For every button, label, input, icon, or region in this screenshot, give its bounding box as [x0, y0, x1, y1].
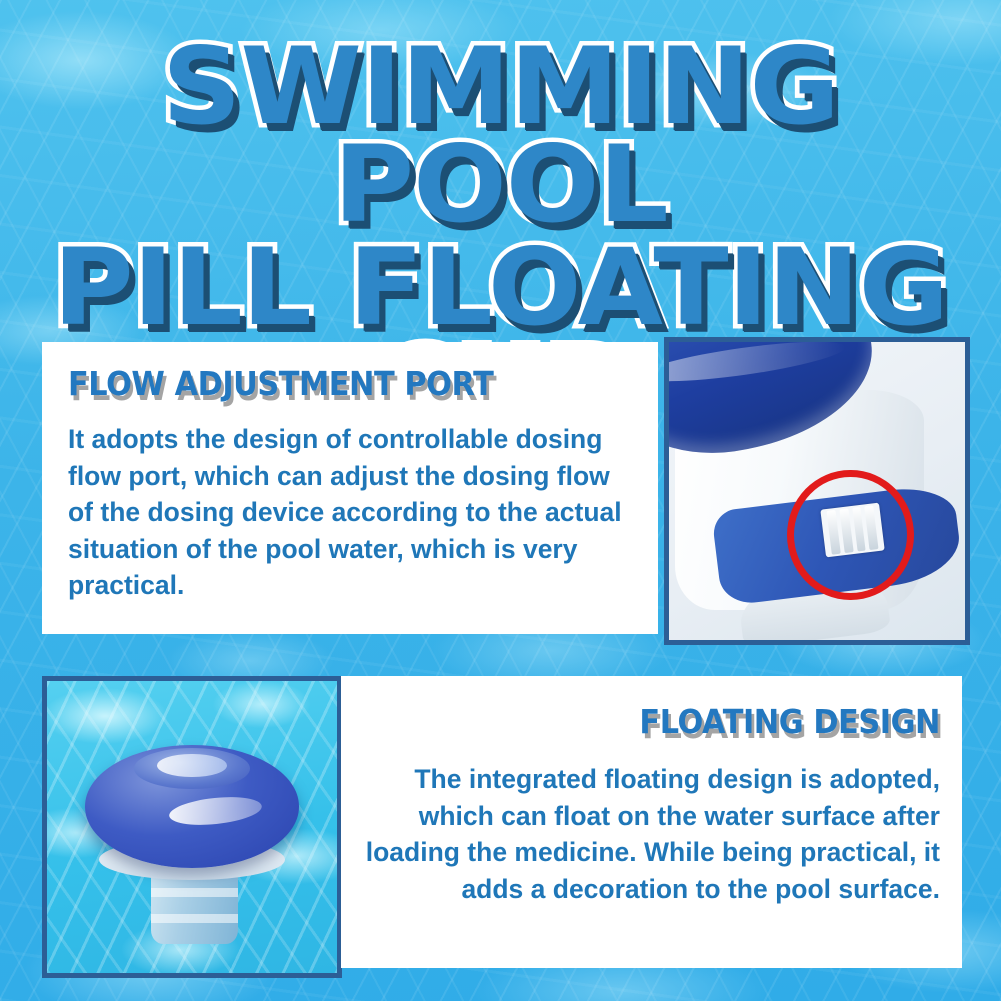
canister-stripe: [151, 914, 238, 923]
red-circle-highlight-icon: [787, 470, 913, 600]
feature-card-floating-design: FLOATING DESIGN The integrated floating …: [341, 676, 962, 968]
feature-card-flow-adjustment-port: FLOW ADJUSTMENT PORT It adopts the desig…: [42, 342, 658, 634]
flow-adjustment-port-closeup-photo: [664, 337, 970, 645]
feature-body-flow-adjustment-port: It adopts the design of controllable dos…: [68, 421, 640, 604]
title-line-1: SWIMMING POOL: [0, 38, 1001, 233]
product-infographic: SWIMMING POOL PILL FLOATING CUP FLOW ADJ…: [0, 0, 1001, 1001]
feature-heading-flow-adjustment-port: FLOW ADJUSTMENT PORT: [68, 364, 594, 403]
feature-heading-floating-design: FLOATING DESIGN: [405, 702, 940, 741]
canister-stripe: [151, 888, 238, 897]
feature-body-floating-design: The integrated floating design is adopte…: [359, 761, 940, 907]
floating-dispenser-in-pool-photo: [42, 676, 342, 978]
